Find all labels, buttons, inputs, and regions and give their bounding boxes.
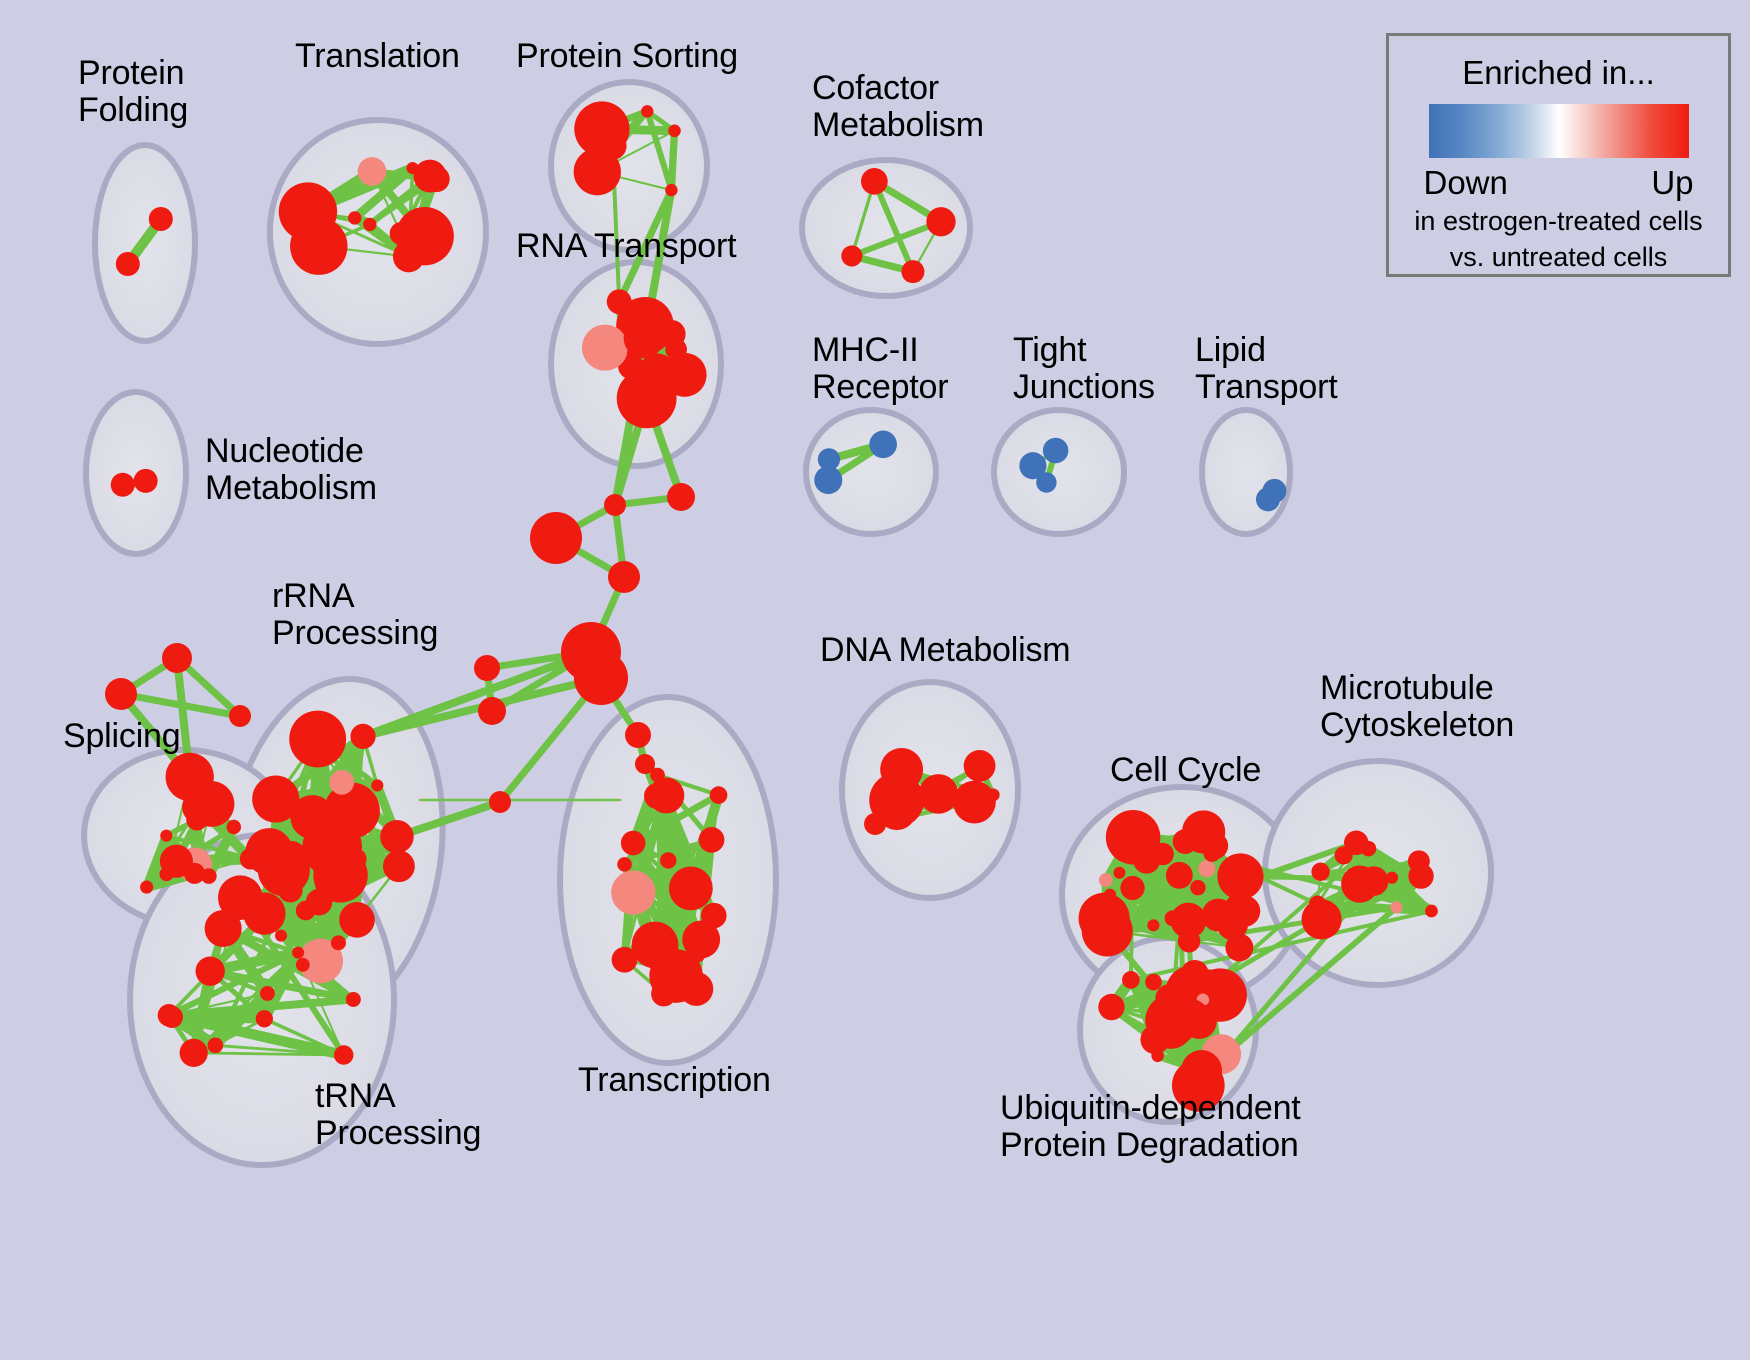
network-node-lipid_transport xyxy=(1262,479,1286,503)
network-node-cofactor_metab xyxy=(926,207,955,236)
cluster-label-cofactor_metab: Cofactor Metabolism xyxy=(812,70,984,143)
network-node-microtubule xyxy=(1425,905,1438,918)
cluster-label-protein_sorting: Protein Sorting xyxy=(516,38,738,75)
cluster-label-nucleotide_metab: Nucleotide Metabolism xyxy=(205,433,377,506)
cluster-hull-nucleotide_metab xyxy=(86,392,186,554)
network-node-ubiquitin xyxy=(1145,974,1162,991)
network-node-bridge xyxy=(474,655,500,681)
network-node-translation xyxy=(279,182,337,240)
network-node-transcription xyxy=(710,786,728,804)
network-node-rna_transport xyxy=(639,353,676,390)
cluster-label-rrna_processing: rRNA Processing xyxy=(272,578,438,651)
network-node-mhc2_receptor xyxy=(814,466,842,494)
cluster-label-rna_transport: RNA Transport xyxy=(516,228,736,265)
cluster-label-mhc2_receptor: MHC-II Receptor xyxy=(812,332,948,405)
network-node-microtubule xyxy=(1344,831,1369,856)
network-node-ubiquitin xyxy=(1181,1004,1216,1039)
legend-endpoints: Down Up xyxy=(1424,164,1694,202)
network-node-cell_cycle xyxy=(1217,853,1263,899)
network-node-protein_sorting xyxy=(641,105,653,117)
network-node-cofactor_metab xyxy=(901,260,924,283)
network-node-cofactor_metab xyxy=(841,245,862,266)
legend-low-label: Down xyxy=(1424,164,1508,202)
network-node-transcription xyxy=(660,852,676,868)
network-node-cell_cycle xyxy=(1099,873,1113,887)
network-edge xyxy=(671,131,674,190)
cluster-label-cell_cycle: Cell Cycle xyxy=(1110,752,1261,789)
network-node-rrna_processing xyxy=(380,820,413,853)
network-node-ubiquitin xyxy=(1122,971,1140,989)
network-node-transcription xyxy=(649,949,703,1003)
network-node-splicing xyxy=(189,781,235,827)
network-node-microtubule xyxy=(1408,863,1433,888)
network-node-rrna_processing xyxy=(331,935,346,950)
network-node-cell_cycle xyxy=(1190,880,1205,895)
network-node-protein_folding xyxy=(149,207,173,231)
legend-title: Enriched in... xyxy=(1462,54,1655,92)
network-node-cell_cycle xyxy=(1225,934,1253,962)
network-node-transcription xyxy=(648,778,684,814)
network-node-cell_cycle xyxy=(1216,904,1234,922)
network-node-bridge xyxy=(489,791,511,813)
cluster-label-dna_metabolism: DNA Metabolism xyxy=(820,632,1070,669)
network-node-microtubule xyxy=(1359,866,1388,895)
cluster-label-translation: Translation xyxy=(295,38,460,75)
network-node-trna_processing xyxy=(208,1037,224,1053)
network-node-rrna_processing xyxy=(329,770,354,795)
cluster-label-trna_processing: tRNA Processing xyxy=(315,1078,481,1151)
network-node-bridge xyxy=(162,643,192,673)
network-node-rrna_processing xyxy=(289,711,346,768)
network-node-trna_processing xyxy=(278,878,303,903)
network-node-bridge xyxy=(105,678,137,710)
network-node-rna_transport xyxy=(582,325,628,371)
network-node-protein_folding xyxy=(116,252,140,276)
cluster-label-ubiquitin: Ubiquitin-dependent Protein Degradation xyxy=(1000,1090,1301,1163)
network-node-trna_processing xyxy=(346,992,361,1007)
network-node-cell_cycle xyxy=(1146,848,1163,865)
network-node-transcription xyxy=(669,867,713,911)
network-node-rna_transport xyxy=(665,339,687,361)
network-node-trna_processing xyxy=(292,947,304,959)
network-node-trna_processing xyxy=(260,986,275,1001)
network-node-bridge xyxy=(530,512,582,564)
network-node-cell_cycle xyxy=(1178,919,1190,931)
network-node-rna_transport xyxy=(627,346,642,361)
network-node-trna_processing xyxy=(196,956,225,985)
network-node-dna_metabolism xyxy=(953,781,996,824)
network-node-transcription xyxy=(617,857,632,872)
network-node-trna_processing xyxy=(256,1010,273,1027)
network-node-microtubule xyxy=(1311,863,1329,881)
legend-high-label: Up xyxy=(1651,164,1693,202)
enrichment-network-figure: Protein FoldingTranslationProtein Sortin… xyxy=(0,0,1750,1360)
cluster-hull-lipid_transport xyxy=(1202,410,1290,534)
network-node-cofactor_metab xyxy=(861,168,888,195)
network-node-transcription xyxy=(611,870,655,914)
legend-colorbar xyxy=(1429,104,1689,158)
network-node-dna_metabolism xyxy=(919,774,959,814)
network-node-transcription xyxy=(621,831,646,856)
network-node-bridge xyxy=(574,651,628,705)
network-node-bridge xyxy=(608,561,640,593)
network-node-rrna_processing xyxy=(275,930,287,942)
network-node-microtubule xyxy=(1390,901,1402,913)
network-node-cell_cycle xyxy=(1147,919,1159,931)
network-node-splicing xyxy=(240,848,261,869)
network-node-cell_cycle xyxy=(1113,867,1125,879)
network-node-dna_metabolism xyxy=(964,750,996,782)
cluster-label-lipid_transport: Lipid Transport xyxy=(1195,332,1337,405)
network-node-splicing xyxy=(201,868,217,884)
network-node-splicing xyxy=(227,820,241,834)
network-node-nucleotide_metab xyxy=(111,473,135,497)
network-node-rna_transport xyxy=(679,357,704,382)
network-node-trna_processing xyxy=(334,1045,353,1064)
network-node-translation xyxy=(423,166,449,192)
legend-panel: Enriched in... Down Up in estrogen-treat… xyxy=(1386,33,1731,277)
network-node-cell_cycle xyxy=(1198,860,1215,877)
network-node-translation xyxy=(358,157,387,186)
network-node-ubiquitin xyxy=(1098,994,1124,1020)
network-node-translation xyxy=(393,241,424,272)
network-node-rrna_processing xyxy=(383,850,415,882)
network-node-protein_sorting xyxy=(574,148,621,195)
network-node-rrna_processing xyxy=(296,958,310,972)
network-node-rrna_processing xyxy=(315,861,356,902)
network-node-tight_junctions xyxy=(1043,438,1069,464)
network-node-bridge xyxy=(667,483,695,511)
network-node-rna_transport xyxy=(648,311,664,327)
network-node-rrna_processing xyxy=(290,795,334,839)
network-node-microtubule xyxy=(1302,899,1342,939)
network-node-bridge xyxy=(625,722,651,748)
network-node-protein_sorting xyxy=(668,125,681,138)
network-node-cell_cycle xyxy=(1182,810,1225,853)
network-node-translation xyxy=(363,218,376,231)
network-node-bridge xyxy=(478,697,506,725)
network-node-trna_processing xyxy=(158,1004,181,1027)
network-node-translation xyxy=(348,211,361,224)
network-node-bridge xyxy=(229,705,251,727)
network-node-rrna_processing xyxy=(371,779,383,791)
cluster-label-splicing: Splicing xyxy=(63,718,180,755)
network-node-dna_metabolism xyxy=(864,813,886,835)
network-node-tight_junctions xyxy=(1036,472,1056,492)
network-node-protein_sorting xyxy=(574,101,629,156)
cluster-label-microtubule: Microtubule Cytoskeleton xyxy=(1320,670,1514,743)
network-node-transcription xyxy=(699,827,725,853)
network-node-protein_sorting xyxy=(665,184,677,196)
network-node-cell_cycle xyxy=(1171,903,1207,939)
network-node-rrna_processing xyxy=(339,902,375,938)
network-node-transcription xyxy=(612,947,638,973)
network-node-bridge xyxy=(604,494,626,516)
cluster-hull-tight_junctions xyxy=(994,410,1124,534)
network-node-nucleotide_metab xyxy=(134,469,158,493)
cluster-label-protein_folding: Protein Folding xyxy=(78,55,188,128)
network-node-rrna_processing xyxy=(268,850,288,870)
network-node-trna_processing xyxy=(205,910,242,947)
network-node-splicing xyxy=(160,830,172,842)
network-node-rna_transport xyxy=(607,289,632,314)
network-node-rrna_processing xyxy=(350,724,375,749)
network-node-mhc2_receptor xyxy=(869,431,897,459)
network-node-cell_cycle xyxy=(1079,893,1130,944)
network-node-cell_cycle xyxy=(1166,862,1193,889)
cluster-label-tight_junctions: Tight Junctions xyxy=(1013,332,1155,405)
network-node-cell_cycle xyxy=(1120,876,1144,900)
cluster-label-transcription: Transcription xyxy=(578,1062,771,1099)
network-node-trna_processing xyxy=(180,1039,208,1067)
legend-caption-line2: vs. untreated cells xyxy=(1450,242,1668,274)
network-node-transcription xyxy=(650,768,665,783)
network-node-cell_cycle xyxy=(1115,845,1128,858)
network-node-splicing xyxy=(140,881,153,894)
legend-caption-line1: in estrogen-treated cells xyxy=(1414,206,1702,238)
